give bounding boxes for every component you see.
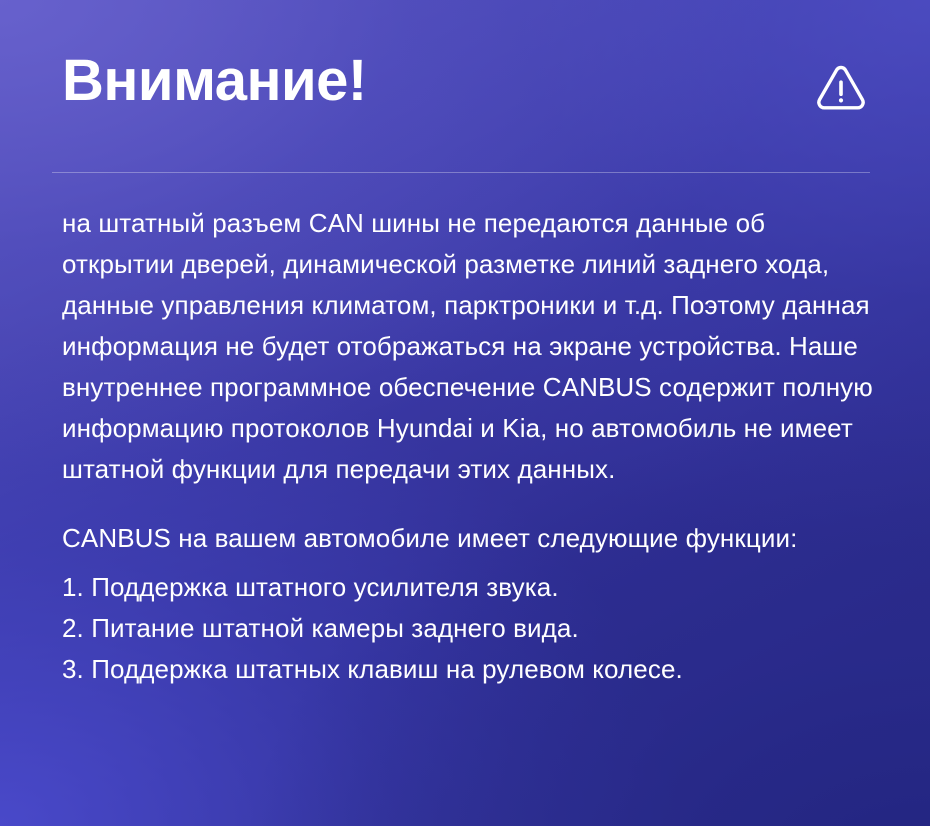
- notice-body: на штатный разъем CAN шины не передаются…: [52, 173, 878, 490]
- warning-triangle-icon: [812, 58, 870, 116]
- notice-paragraph: на штатный разъем CAN шины не передаются…: [62, 203, 878, 490]
- banner-header: Внимание!: [52, 0, 878, 172]
- page-title: Внимание!: [62, 52, 367, 110]
- list-item: 3. Поддержка штатных клавиш на рулевом к…: [62, 649, 878, 690]
- list-item: 1. Поддержка штатного усилителя звука.: [62, 567, 878, 608]
- banner-content: Внимание! на штатный разъем CAN шины не …: [0, 0, 930, 690]
- list-item: 2. Питание штатной камеры заднего вида.: [62, 608, 878, 649]
- features-list: 1. Поддержка штатного усилителя звука. 2…: [62, 567, 878, 690]
- features-heading: CANBUS на вашем автомобиле имеет следующ…: [62, 518, 878, 559]
- attention-banner: Внимание! на штатный разъем CAN шины не …: [0, 0, 930, 826]
- features-section: CANBUS на вашем автомобиле имеет следующ…: [52, 518, 878, 690]
